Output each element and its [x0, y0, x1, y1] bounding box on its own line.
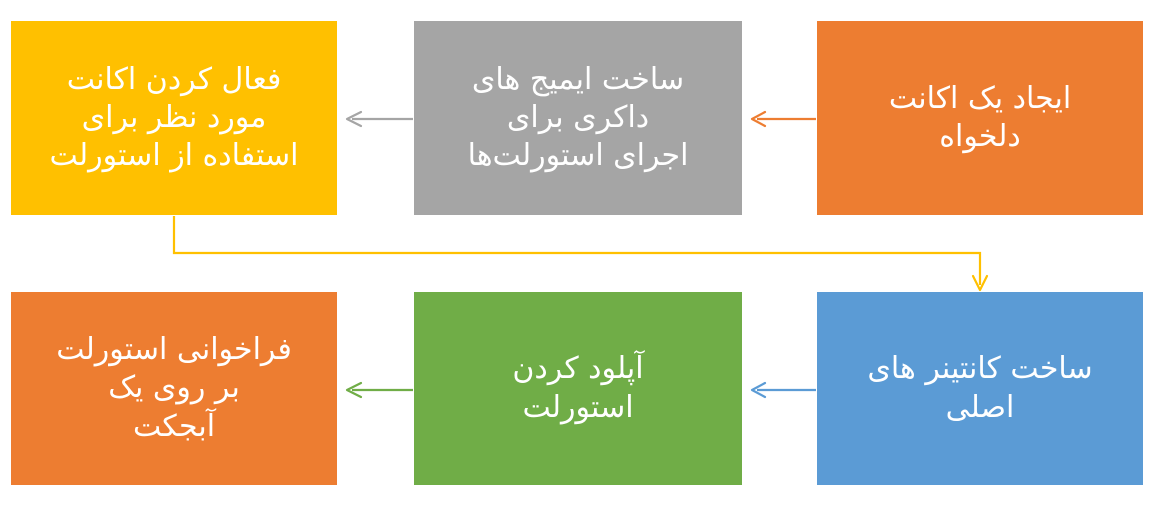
- edge-upload-streamlet-to-call-streamlet: [347, 383, 413, 397]
- arrowhead-left-icon: [347, 383, 361, 397]
- arrowhead-left-icon: [752, 112, 765, 126]
- flow-node-create-account[interactable]: ایجاد یک اکانت دلخواه: [817, 21, 1143, 215]
- arrowhead-left-icon: [752, 383, 765, 397]
- arrowhead-left-icon: [347, 112, 361, 126]
- edge-create-account-to-docker-images: [752, 112, 816, 126]
- flow-node-create-containers[interactable]: ساخت کانتینر های اصلی: [817, 292, 1143, 485]
- edge-docker-images-to-activate-account: [347, 112, 413, 126]
- edge-activate-account-to-create-containers: [174, 216, 987, 290]
- flow-node-docker-images[interactable]: ساخت ایمیج های داکری برای اجرای استورلت‌…: [414, 21, 742, 215]
- flow-node-activate-account[interactable]: فعال کردن اکانت مورد نظر برای استفاده از…: [11, 21, 337, 215]
- arrowhead-down-icon: [973, 276, 987, 290]
- edge-create-containers-to-upload-streamlet: [752, 383, 816, 397]
- flowchart-canvas: ایجاد یک اکانت دلخواه ساخت ایمیج های داک…: [0, 0, 1157, 510]
- flow-node-upload-streamlet[interactable]: آپلود کردن استورلت: [414, 292, 742, 485]
- flow-node-call-streamlet[interactable]: فراخوانی استورلت بر روی یک آبجکت: [11, 292, 337, 485]
